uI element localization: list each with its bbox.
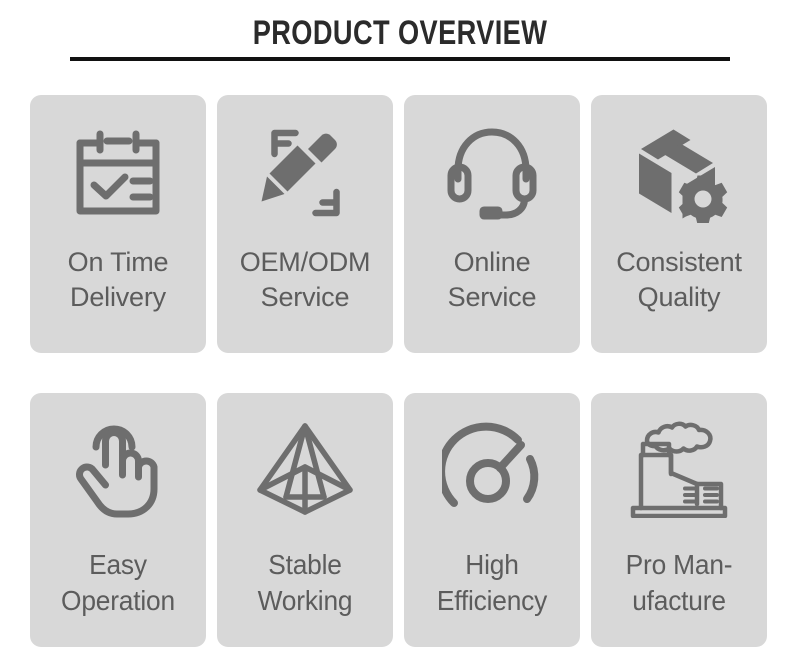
feature-card-consistent-quality[interactable]: Consistent Quality	[591, 95, 767, 353]
feature-row-2: Easy Operation Stable Working	[30, 393, 770, 647]
feature-card-label: Pro Man-ufacture	[598, 547, 760, 619]
feature-card-pro-manufacture[interactable]: Pro Man-ufacture	[591, 393, 767, 647]
feature-card-grid: On Time Delivery	[30, 95, 770, 647]
page-header: PRODUCT OVERVIEW	[0, 0, 800, 80]
feature-card-high-efficiency[interactable]: High Efficiency	[404, 393, 580, 647]
factory-icon	[620, 413, 738, 525]
feature-card-label: OEM/ODM Service	[219, 245, 391, 315]
box-gear-icon	[620, 117, 738, 229]
feature-card-label: High Efficiency	[411, 547, 573, 619]
feature-card-label: Stable Working	[224, 547, 386, 619]
gauge-icon	[433, 413, 551, 525]
feature-card-label: On Time Delivery	[32, 245, 204, 315]
feature-card-on-time-delivery[interactable]: On Time Delivery	[30, 95, 206, 353]
feature-card-stable-working[interactable]: Stable Working	[217, 393, 393, 647]
page-title: PRODUCT OVERVIEW	[80, 14, 720, 53]
pyramid-icon	[246, 413, 364, 525]
feature-card-label: Easy Operation	[37, 547, 199, 619]
feature-card-label: Consistent Quality	[593, 245, 765, 315]
pencil-design-icon	[246, 117, 364, 229]
hand-tap-icon	[59, 413, 177, 525]
feature-card-online-service[interactable]: Online Service	[404, 95, 580, 353]
feature-card-easy-operation[interactable]: Easy Operation	[30, 393, 206, 647]
title-divider	[70, 57, 730, 61]
headset-icon	[433, 117, 551, 229]
feature-row-1: On Time Delivery	[30, 95, 770, 353]
feature-card-oem-odm-service[interactable]: OEM/ODM Service	[217, 95, 393, 353]
feature-card-label: Online Service	[406, 245, 578, 315]
product-overview-page: PRODUCT OVERVIEW	[0, 0, 800, 664]
calendar-check-icon	[59, 117, 177, 229]
